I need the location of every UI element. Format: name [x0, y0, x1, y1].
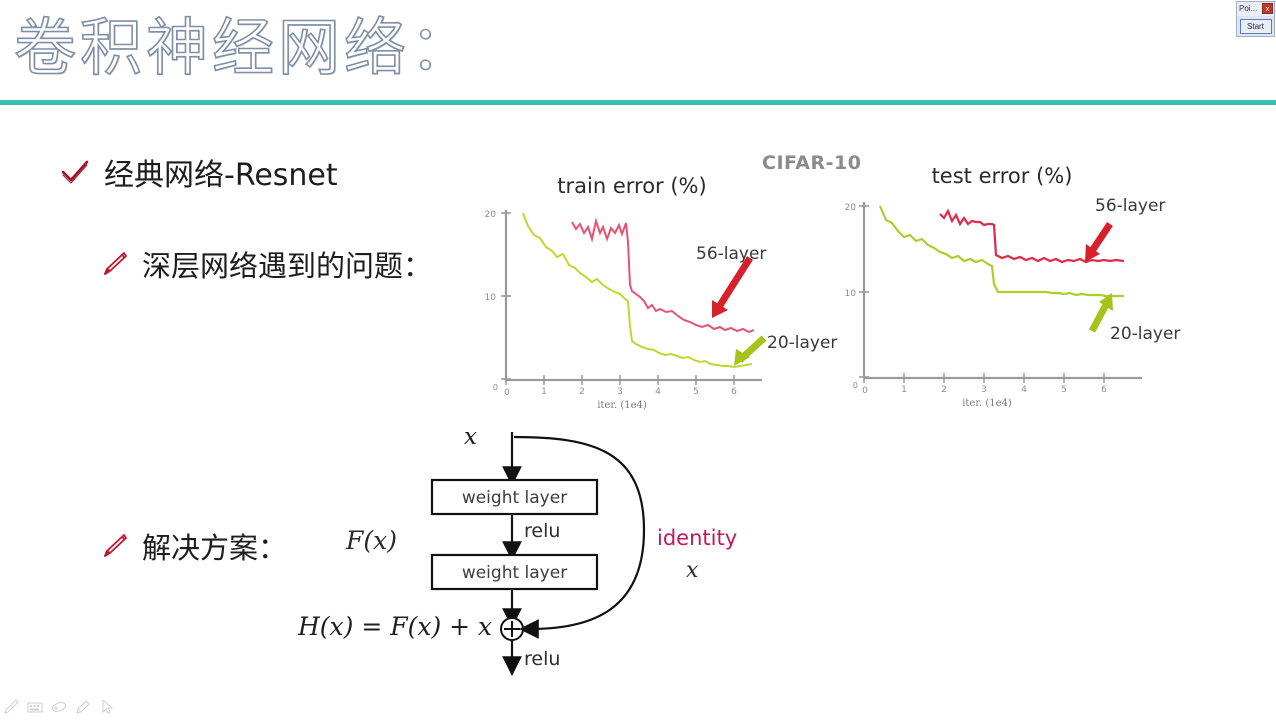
title-divider — [0, 100, 1276, 105]
svg-text:10: 10 — [485, 293, 497, 303]
svg-text:1: 1 — [901, 385, 907, 395]
relu-2-label: relu — [524, 648, 560, 670]
bullet-item-1: 经典网络-Resnet — [60, 150, 338, 194]
svg-text:0: 0 — [504, 388, 510, 398]
residual-block-diagram: weight layer weight layer x relu relu F(… — [292, 420, 762, 688]
bullet-label-3: 解决方案： — [142, 525, 287, 567]
svg-text:5: 5 — [1061, 385, 1067, 395]
svg-text:0: 0 — [862, 386, 868, 396]
bullet-item-2: 深层网络遇到的问题： — [100, 243, 432, 285]
svg-text:4: 4 — [655, 387, 661, 397]
svg-text:6: 6 — [1101, 385, 1107, 395]
train-error-plot: 20 10 0 0 1 2 3 4 — [462, 138, 802, 416]
charts-figure: CIFAR-10 train error (%) 20 10 0 — [462, 138, 1222, 416]
annotation-56-layer-test: 56-layer — [1095, 196, 1165, 216]
bullet-label-1: 经典网络-Resnet — [104, 150, 338, 194]
slide-canvas: 卷积神经网络： 经典网络-Resnet 深层网络遇到的问题： — [0, 0, 1276, 720]
bullet-label-2: 深层网络遇到的问题： — [142, 243, 432, 285]
svg-text:20: 20 — [485, 210, 497, 220]
output-equation: H(x) = F(x) + x — [298, 612, 492, 641]
mini-window-body: Start — [1237, 16, 1274, 36]
close-icon[interactable]: x — [1262, 3, 1273, 14]
check-icon — [60, 159, 90, 185]
svg-text:20: 20 — [845, 203, 857, 213]
pencil-icon — [100, 250, 128, 278]
svg-text:0: 0 — [853, 381, 858, 390]
test-error-chart: test error (%) 20 10 0 — [842, 138, 1202, 416]
test-error-plot: 20 10 0 0 1 2 3 4 5 — [842, 138, 1202, 416]
svg-text:10: 10 — [845, 289, 857, 299]
keyboard-icon[interactable] — [26, 698, 44, 716]
svg-text:3: 3 — [617, 387, 623, 397]
svg-text:5: 5 — [693, 387, 699, 397]
floating-mini-window[interactable]: Poi... x Start — [1236, 1, 1275, 37]
pen-icon[interactable] — [2, 698, 20, 716]
svg-text:1: 1 — [541, 387, 547, 397]
svg-text:iter. (1e4): iter. (1e4) — [962, 398, 1012, 409]
svg-text:2: 2 — [579, 387, 585, 397]
mini-window-titlebar[interactable]: Poi... x — [1237, 2, 1274, 16]
svg-text:3: 3 — [981, 385, 987, 395]
relu-1-label: relu — [524, 520, 560, 542]
annotation-20-layer-test: 20-layer — [1110, 324, 1180, 344]
cursor-icon[interactable] — [98, 698, 116, 716]
train-error-chart: train error (%) 20 10 0 — [462, 138, 802, 416]
pencil-icon — [100, 532, 128, 560]
highlighter-icon[interactable] — [74, 698, 92, 716]
svg-text:0: 0 — [493, 383, 498, 392]
bullet-item-3: 解决方案： — [100, 525, 287, 567]
ink-toolbar[interactable] — [2, 697, 116, 717]
svg-text:iter. (1e4): iter. (1e4) — [597, 400, 647, 411]
arrow-20-layer — [734, 338, 764, 366]
svg-text:2: 2 — [941, 385, 947, 395]
annotation-56-layer-train: 56-layer — [696, 244, 766, 264]
arrow-56-layer-test — [1085, 224, 1110, 262]
eraser-icon[interactable] — [50, 698, 68, 716]
fx-label: F(x) — [346, 526, 397, 555]
identity-label: identity — [657, 526, 737, 550]
mini-window-title: Poi... — [1239, 2, 1257, 16]
page-title: 卷积神经网络： — [14, 8, 476, 88]
weight-layer-1-label: weight layer — [432, 488, 597, 508]
annotation-20-layer-train: 20-layer — [767, 333, 837, 353]
svg-text:6: 6 — [731, 387, 737, 397]
input-x-label: x — [464, 424, 477, 450]
start-button[interactable]: Start — [1240, 19, 1272, 34]
svg-text:4: 4 — [1021, 385, 1027, 395]
arrow-56-layer — [712, 258, 750, 318]
identity-x-label: x — [686, 558, 698, 583]
weight-layer-2-label: weight layer — [432, 563, 597, 583]
